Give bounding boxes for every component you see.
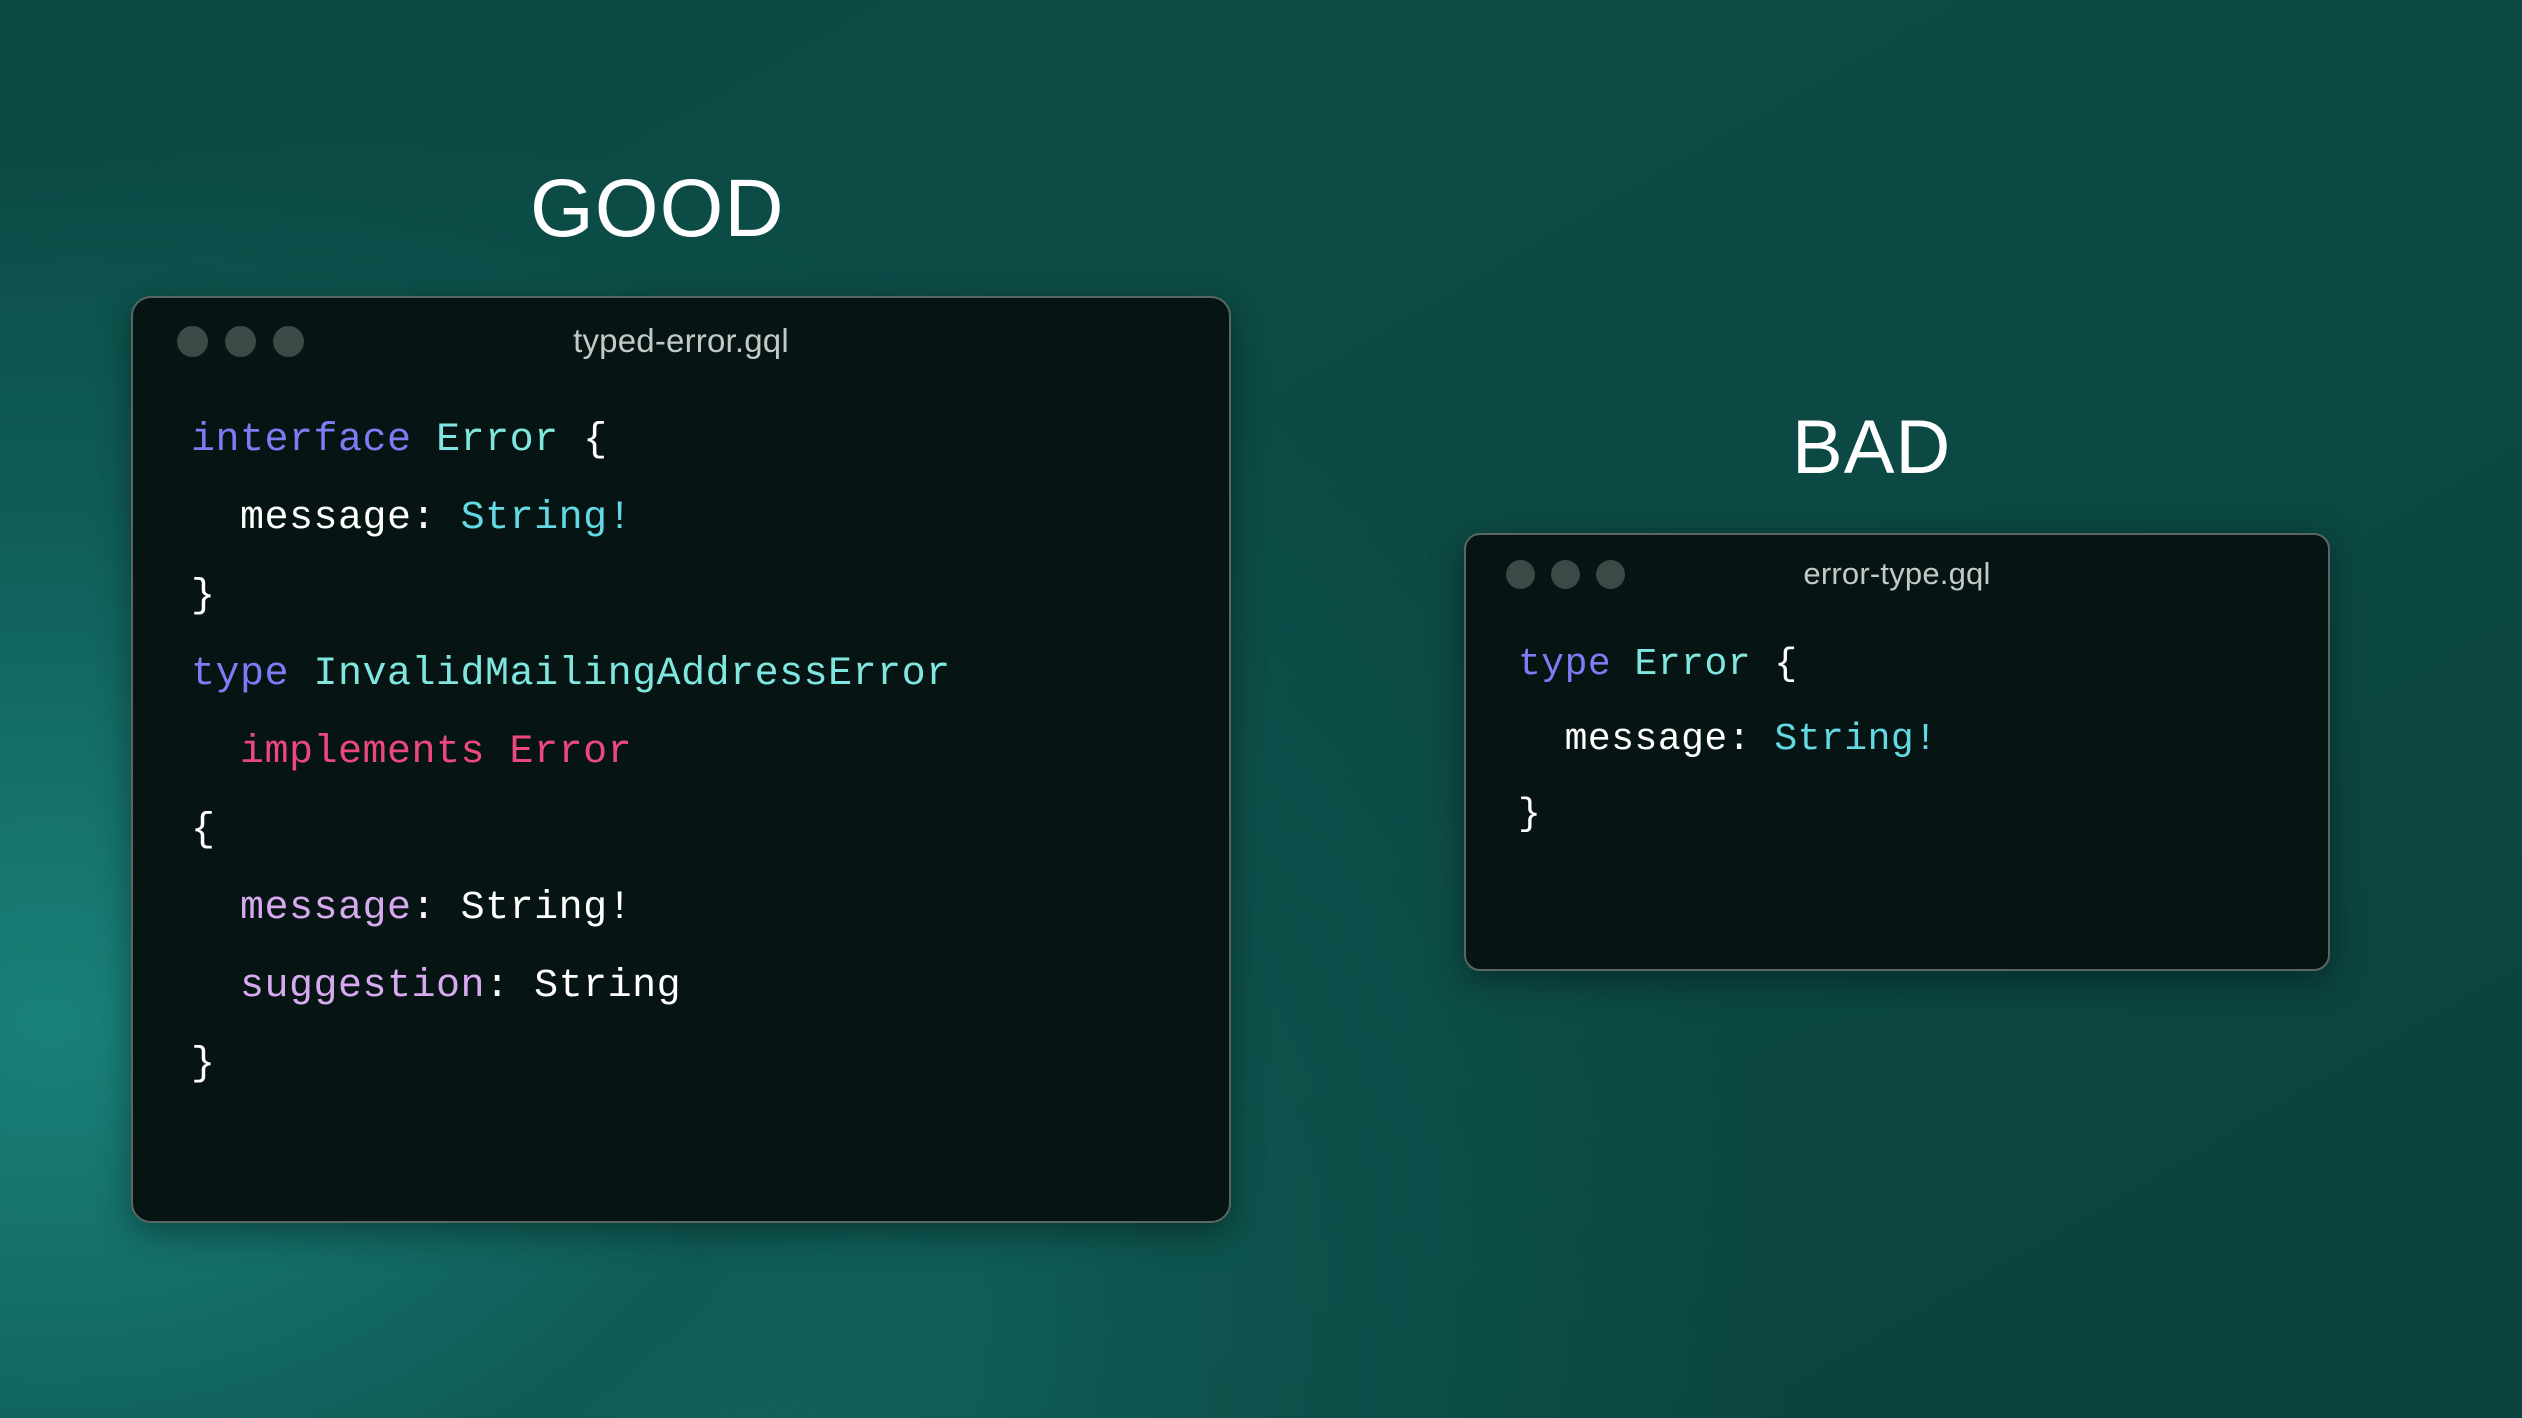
- code-line: type Error {: [1518, 627, 2328, 702]
- minimize-dot-icon[interactable]: [225, 326, 256, 357]
- code-token: message: [240, 886, 412, 931]
- code-line: message: String!: [191, 870, 1229, 948]
- code-token: String!: [461, 496, 633, 541]
- code-token: suggestion: [240, 964, 485, 1009]
- code-token: Error: [1635, 643, 1752, 686]
- code-token: [559, 418, 584, 463]
- code-token: [1751, 643, 1774, 686]
- code-token: InvalidMailingAddressError: [314, 652, 951, 697]
- code-token: message: [240, 496, 412, 541]
- code-line: type InvalidMailingAddressError: [191, 636, 1229, 714]
- code-line: message: String!: [191, 480, 1229, 558]
- code-line: message: String!: [1518, 702, 2328, 777]
- code-token: interface: [191, 418, 412, 463]
- code-token: {: [191, 808, 216, 853]
- bad-code-block: type Error { message: String!}: [1466, 613, 2328, 852]
- code-token: message: [1565, 718, 1728, 761]
- code-token: [191, 730, 240, 775]
- bad-window-titlebar: error-type.gql: [1466, 535, 2328, 613]
- code-token: String!: [461, 886, 633, 931]
- maximize-dot-icon[interactable]: [1596, 560, 1625, 589]
- code-token: Error: [436, 418, 559, 463]
- code-token: :: [485, 964, 534, 1009]
- code-token: {: [1774, 643, 1797, 686]
- bad-heading: BAD: [1792, 410, 1951, 486]
- code-token: [191, 886, 240, 931]
- code-token: }: [191, 1042, 216, 1087]
- code-token: }: [191, 574, 216, 619]
- code-token: [412, 418, 437, 463]
- code-token: [289, 652, 314, 697]
- good-heading: GOOD: [530, 168, 785, 250]
- code-token: type: [191, 652, 289, 697]
- code-line: }: [191, 558, 1229, 636]
- code-line: {: [191, 792, 1229, 870]
- good-window-traffic-lights: [177, 326, 304, 357]
- code-token: implements Error: [240, 730, 632, 775]
- code-token: :: [1728, 718, 1775, 761]
- maximize-dot-icon[interactable]: [273, 326, 304, 357]
- code-token: [191, 496, 240, 541]
- minimize-dot-icon[interactable]: [1551, 560, 1580, 589]
- good-code-block: interface Error { message: String!}type …: [133, 384, 1229, 1104]
- code-line: suggestion: String: [191, 948, 1229, 1026]
- code-token: {: [583, 418, 608, 463]
- code-line: }: [191, 1026, 1229, 1104]
- good-window-titlebar: typed-error.gql: [133, 298, 1229, 384]
- code-token: :: [412, 886, 461, 931]
- good-code-window: typed-error.gql interface Error { messag…: [131, 296, 1231, 1223]
- code-line: interface Error {: [191, 402, 1229, 480]
- code-token: String: [534, 964, 681, 1009]
- code-token: :: [412, 496, 461, 541]
- close-dot-icon[interactable]: [177, 326, 208, 357]
- code-line: }: [1518, 777, 2328, 852]
- bad-code-window: error-type.gql type Error { message: Str…: [1464, 533, 2330, 971]
- bad-window-traffic-lights: [1506, 560, 1625, 589]
- code-token: String!: [1774, 718, 1937, 761]
- code-token: [1518, 718, 1565, 761]
- slide-canvas: GOOD typed-error.gql interface Error { m…: [0, 0, 2522, 1418]
- code-token: }: [1518, 793, 1541, 836]
- code-token: [191, 964, 240, 1009]
- code-line: implements Error: [191, 714, 1229, 792]
- code-token: [1611, 643, 1634, 686]
- close-dot-icon[interactable]: [1506, 560, 1535, 589]
- code-token: type: [1518, 643, 1611, 686]
